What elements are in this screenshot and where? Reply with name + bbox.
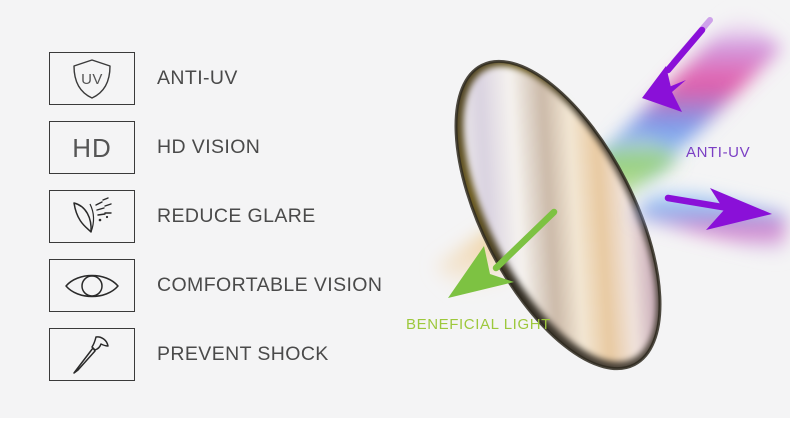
feature-row-hd-vision: HD HD VISION (49, 121, 409, 174)
lens-light-illustration (410, 0, 790, 420)
feature-label-hd-vision: HD VISION (157, 136, 260, 159)
svg-text:UV: UV (81, 71, 103, 88)
feature-label-anti-uv: ANTI-UV (157, 67, 238, 90)
uv-shield-icon: UV (49, 52, 135, 105)
beneficial-light-label: BENEFICIAL LIGHT (406, 316, 551, 333)
uv-reflected-beam (634, 186, 786, 256)
hammer-icon (49, 328, 135, 381)
reduce-glare-icon (49, 190, 135, 243)
hd-icon-text: HD (72, 135, 112, 161)
feature-label-reduce-glare: REDUCE GLARE (157, 205, 316, 228)
product-feature-panel: UV ANTI-UV HD HD VISION (0, 0, 790, 440)
anti-uv-label: ANTI-UV (686, 144, 750, 161)
hd-icon: HD (49, 121, 135, 174)
feature-list: UV ANTI-UV HD HD VISION (49, 52, 409, 397)
eye-icon (49, 259, 135, 312)
feature-row-reduce-glare: REDUCE GLARE (49, 190, 409, 243)
feature-label-comfortable-vision: COMFORTABLE VISION (157, 274, 382, 297)
feature-label-prevent-shock: PREVENT SHOCK (157, 343, 329, 366)
feature-row-comfortable-vision: COMFORTABLE VISION (49, 259, 409, 312)
feature-row-prevent-shock: PREVENT SHOCK (49, 328, 409, 381)
bottom-white-strip (0, 418, 790, 440)
feature-row-anti-uv: UV ANTI-UV (49, 52, 409, 105)
